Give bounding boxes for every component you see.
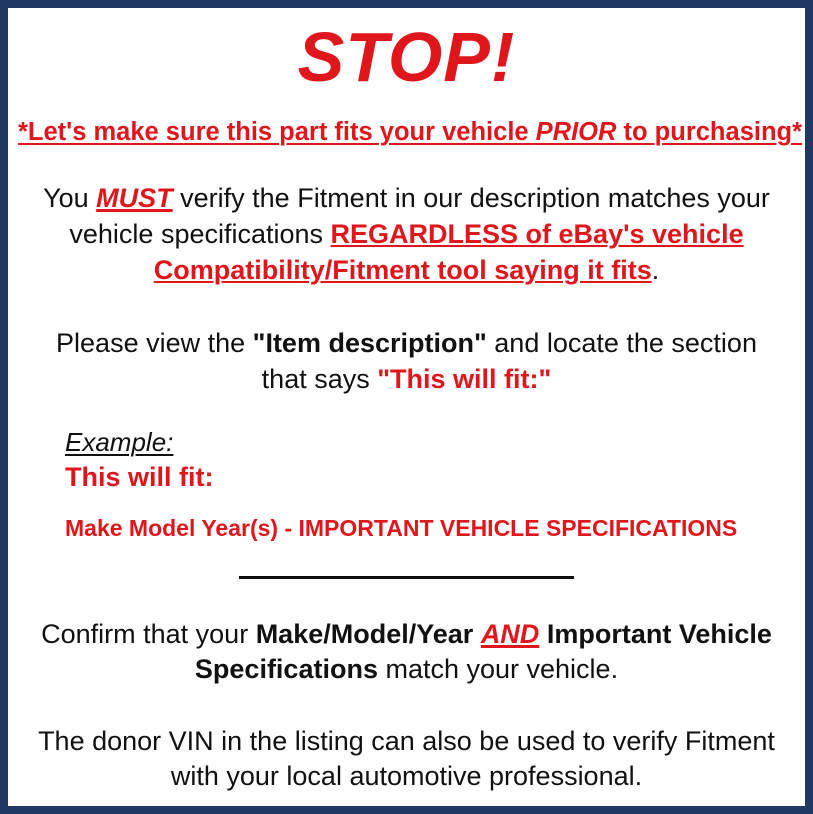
example-label: Example: [65,427,173,458]
subtitle-line: *Let's make sure this part fits your veh… [18,92,795,147]
this-will-fit-quote: "This will fit:" [377,364,551,394]
item-description-label: "Item description" [253,328,487,358]
example-block: Example: This will fit: Make Model Year(… [18,397,795,542]
confirm-part-2: match your vehicle. [378,654,618,684]
must-paragraph-part-1: You [43,183,96,213]
stop-heading: STOP! [18,8,795,92]
donor-vin-paragraph: The donor VIN in the listing can also be… [18,688,795,795]
confirm-space-1 [473,619,481,649]
horizontal-divider [239,576,574,579]
confirm-part-1: Confirm that your [41,619,256,649]
must-emphasis: MUST [96,183,173,213]
confirm-paragraph: Confirm that your Make/Model/Year AND Im… [18,587,795,688]
subtitle-tail-text: to purchasing* [616,118,802,146]
subtitle-prior-emphasis: PRIOR [536,118,617,146]
and-emphasis: AND [481,619,540,649]
notice-content: STOP! *Let's make sure this part fits yo… [8,8,805,806]
fitment-notice-card: STOP! *Let's make sure this part fits yo… [0,0,813,814]
make-model-year-emphasis: Make/Model/Year [256,619,474,649]
example-specification-line: Make Model Year(s) - IMPORTANT VEHICLE S… [65,493,795,543]
divider-container [18,543,795,587]
subtitle-lead-text: *Let's make sure this part fits your veh… [18,118,536,146]
thank-you-message: Thank you for confirming Fitment! [18,795,795,814]
itemdesc-part-1: Please view the [56,328,253,358]
item-description-paragraph: Please view the "Item description" and l… [18,288,795,397]
confirm-space-2 [539,619,547,649]
example-label-row: Example: [65,427,795,458]
must-paragraph-period: . [652,255,660,285]
example-this-will-fit: This will fit: [65,459,795,493]
must-verify-paragraph: You MUST verify the Fitment in our descr… [18,147,795,288]
